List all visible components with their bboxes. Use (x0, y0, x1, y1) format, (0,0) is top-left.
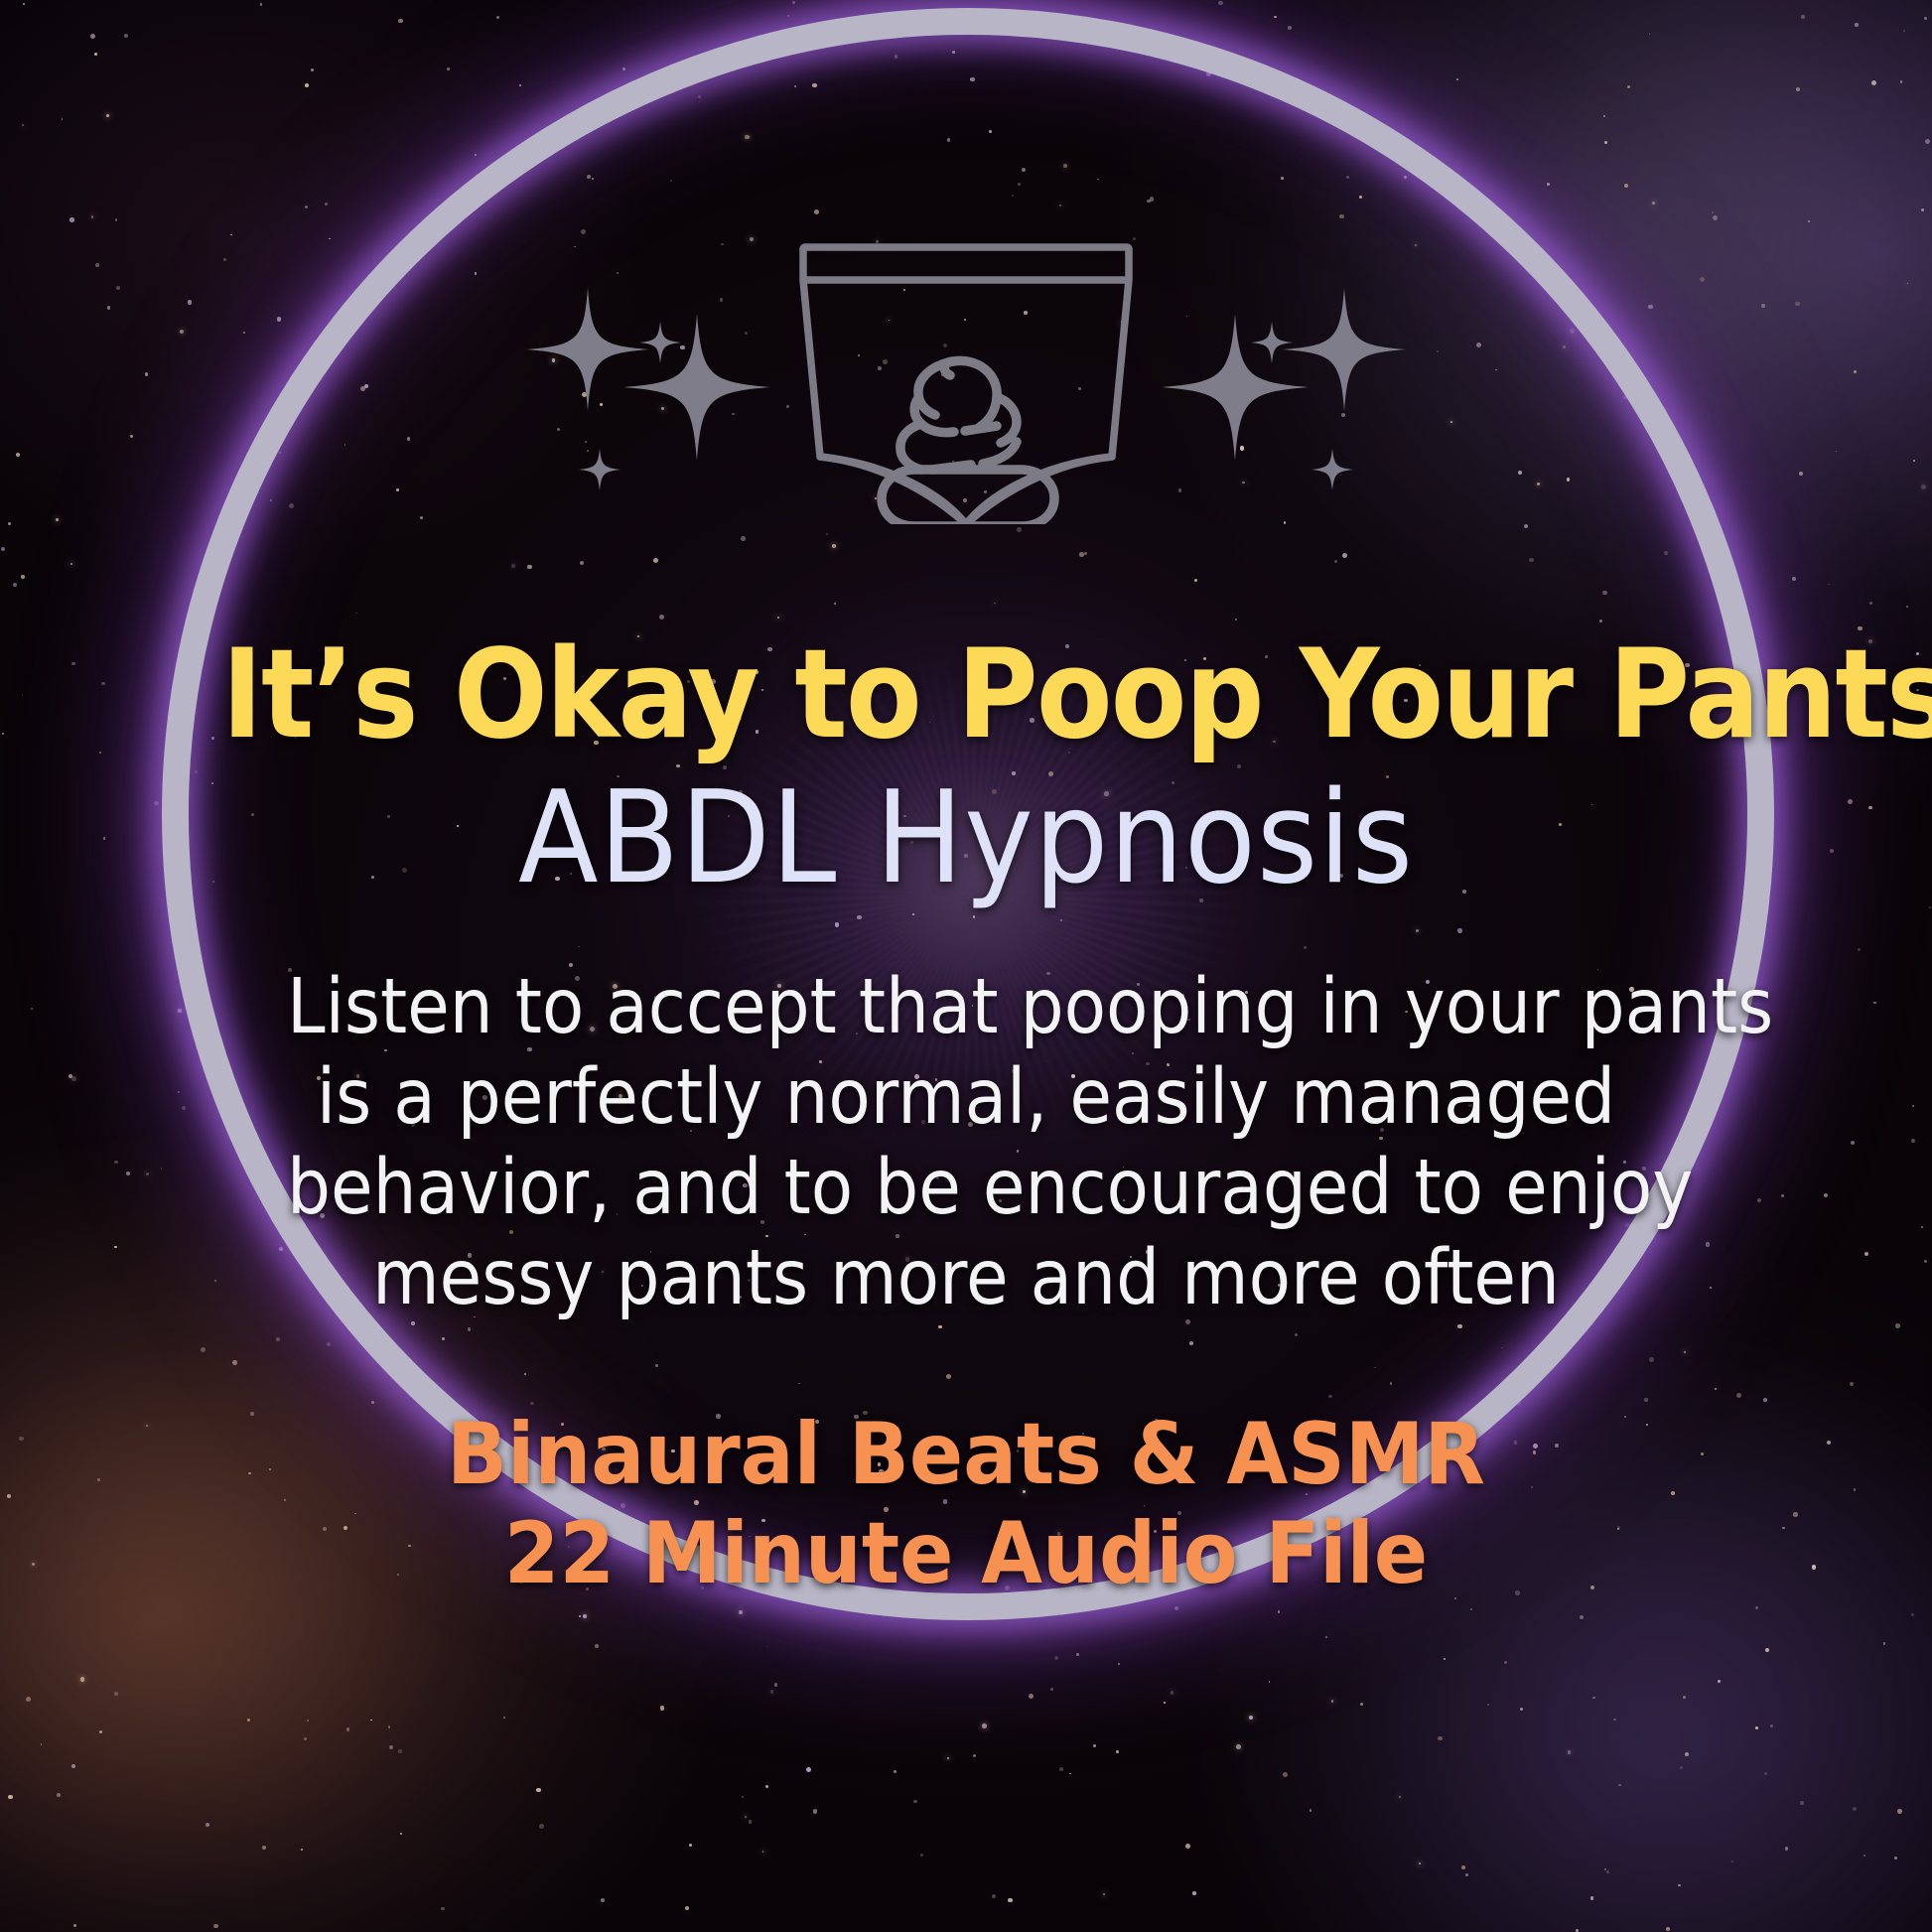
description-line: messy pants more and more often (287, 1234, 1645, 1324)
description-line: is a perfectly normal, easily managed (287, 1053, 1645, 1144)
sparkle-star-large (1162, 314, 1309, 461)
audio-format-line: Binaural Beats & ASMR (197, 1406, 1734, 1505)
description-line: behavior, and to be encouraged to enjoy (287, 1144, 1645, 1234)
description-text: Listen to accept that pooping in your pa… (287, 963, 1645, 1323)
sparkle-diamond-small (1311, 449, 1353, 490)
underwear-waistband (803, 247, 1129, 280)
page-subtitle: ABDL Hypnosis (206, 767, 1727, 909)
poster-canvas: It’s Okay to Poop Your Pants ABDL Hypnos… (0, 0, 1932, 1932)
sparkle-star-large (526, 288, 649, 411)
underwear-body (803, 280, 1129, 524)
sparkle-diamond-small (1251, 322, 1293, 363)
sparkle-star-large (623, 314, 770, 461)
poster-text-block: It’s Okay to Poop Your Pants ABDL Hypnos… (139, 631, 1793, 1603)
description-line: Listen to accept that pooping in your pa… (287, 963, 1645, 1053)
sparkle-diamond-small (579, 449, 621, 490)
sparkle-diamond-small (639, 322, 681, 363)
sparkle-cluster-left (484, 236, 782, 534)
underwear-with-poop-icon (782, 236, 1150, 534)
poop-swirl-icon (882, 360, 1054, 524)
page-title: It’s Okay to Poop Your Pants (221, 631, 1710, 759)
sparkle-star-large (1283, 288, 1406, 411)
audio-duration-line: 22 Minute Audio File (197, 1505, 1734, 1604)
audio-info-text: Binaural Beats & ASMR 22 Minute Audio Fi… (197, 1406, 1734, 1604)
sparkle-cluster-right (1150, 236, 1448, 534)
top-graphic-row (0, 226, 1932, 544)
